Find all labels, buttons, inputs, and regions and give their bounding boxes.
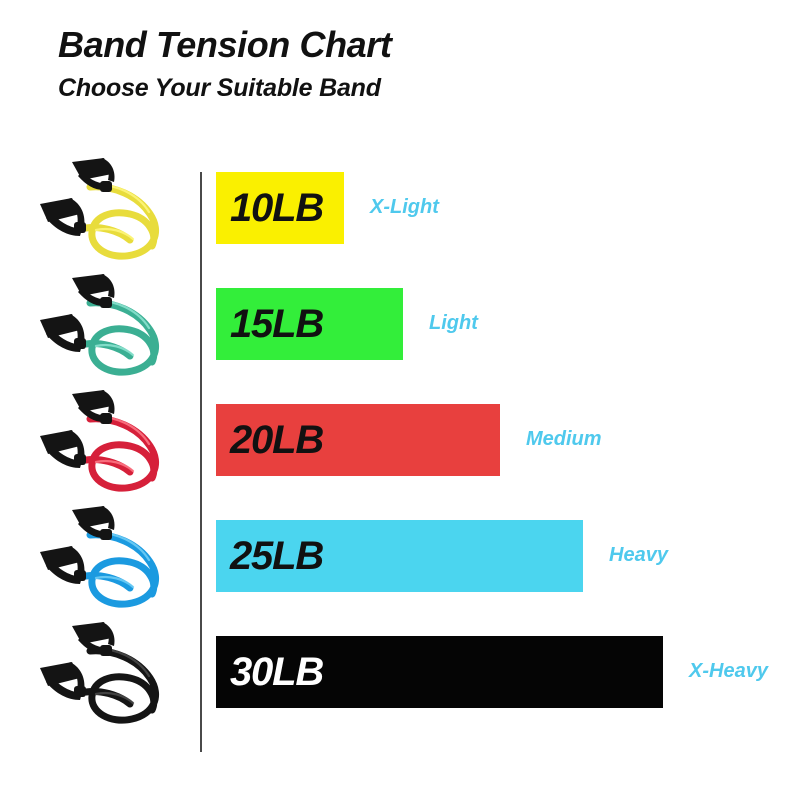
bar-value-label: 15LB — [230, 304, 323, 344]
chart-row: 20LBMedium — [0, 382, 800, 498]
bar-category-label: Light — [429, 313, 478, 333]
bar-value-label: 10LB — [230, 188, 323, 228]
bar[interactable]: 10LB — [216, 172, 344, 244]
chart-row: 10LBX-Light — [0, 150, 800, 266]
page-title: Band Tension Chart — [58, 26, 758, 65]
bar[interactable]: 20LB — [216, 404, 500, 476]
bar-category-label: Medium — [526, 429, 602, 449]
resistance-band-icon — [26, 616, 196, 728]
bar-category-label: X-Light — [370, 197, 439, 217]
resistance-band-icon — [26, 268, 196, 380]
resistance-band-icon — [26, 152, 196, 264]
resistance-band-icon — [26, 500, 196, 612]
chart-row: 15LBLight — [0, 266, 800, 382]
bar-chart: 10LBX-Light 15LBLight — [0, 150, 800, 770]
page-subtitle: Choose Your Suitable Band — [58, 75, 758, 103]
chart-row: 25LBHeavy — [0, 498, 800, 614]
chart-header: Band Tension Chart Choose Your Suitable … — [58, 26, 758, 102]
bar[interactable]: 30LB — [216, 636, 663, 708]
bar-value-label: 20LB — [230, 420, 323, 460]
bar[interactable]: 15LB — [216, 288, 403, 360]
bar-category-label: X-Heavy — [689, 661, 768, 681]
bar-category-label: Heavy — [609, 545, 668, 565]
chart-row: 30LBX-Heavy — [0, 614, 800, 730]
bar-value-label: 30LB — [230, 652, 323, 692]
bar[interactable]: 25LB — [216, 520, 583, 592]
resistance-band-icon — [26, 384, 196, 496]
bar-value-label: 25LB — [230, 536, 323, 576]
